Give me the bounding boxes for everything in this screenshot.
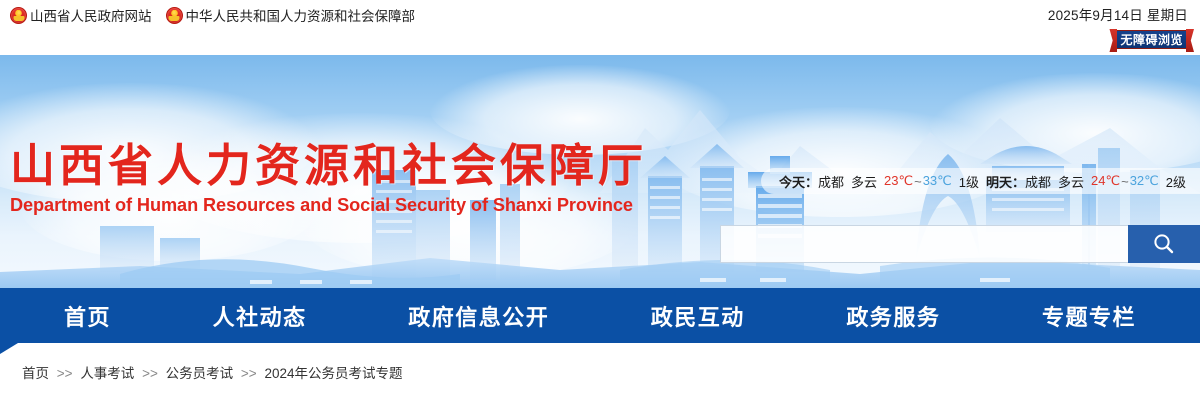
breadcrumb-separator: >> <box>237 366 261 381</box>
top-bar: 山西省人民政府网站 中华人民共和国人力资源和社会保障部 2025年9月14日 星… <box>0 0 1200 55</box>
main-navigation-wrapper: 首页 人社动态 政府信息公开 政民互动 政务服务 专题专栏 <box>0 288 1200 343</box>
breadcrumb-item-current[interactable]: 2024年公务员考试专题 <box>264 366 402 381</box>
weather-today-low-temp: 23℃ <box>884 173 913 189</box>
main-navigation: 首页 人社动态 政府信息公开 政民互动 政务服务 专题专栏 <box>0 288 1200 343</box>
ribbon-right-decoration <box>1186 29 1194 52</box>
search-input[interactable] <box>720 225 1128 263</box>
weather-tomorrow-wind: 2级 <box>1166 172 1186 191</box>
site-banner: 山西省人力资源和社会保障厅 Department of Human Resour… <box>0 55 1200 288</box>
weather-today-range-separator: ~ <box>913 174 923 189</box>
weather-tomorrow-low-temp: 24℃ <box>1091 173 1120 189</box>
nav-item-gov-info[interactable]: 政府信息公开 <box>408 300 549 332</box>
breadcrumb-bar: 首页 >> 人事考试 >> 公务员考试 >> 2024年公务员考试专题 <box>0 343 1200 400</box>
nav-item-services[interactable]: 政务服务 <box>846 300 940 332</box>
link-label: 山西省人民政府网站 <box>30 5 152 25</box>
breadcrumb-separator: >> <box>138 366 162 381</box>
weather-today-city: 成都 <box>818 172 844 191</box>
nav-item-topics[interactable]: 专题专栏 <box>1042 300 1136 332</box>
search-button[interactable] <box>1128 225 1200 263</box>
site-title-block: 山西省人力资源和社会保障厅 Department of Human Resour… <box>10 141 647 216</box>
breadcrumb-item-personnel-exam[interactable]: 人事考试 <box>80 366 134 381</box>
weather-tomorrow-label: 明天： <box>986 172 1025 191</box>
national-emblem-icon <box>10 7 27 24</box>
accessibility-label: 无障碍浏览 <box>1120 31 1183 48</box>
weather-widget: 今天： 成都 多云 23℃ ~ 33℃ 1级 明天： 成都 多云 24℃ ~ 3… <box>761 168 1200 194</box>
breadcrumb-item-home[interactable]: 首页 <box>22 366 49 381</box>
link-shanxi-gov-site[interactable]: 山西省人民政府网站 <box>10 5 152 25</box>
site-title-cn: 山西省人力资源和社会保障厅 <box>10 141 647 191</box>
weather-tomorrow-high-temp: 32℃ <box>1130 173 1159 189</box>
breadcrumb-separator: >> <box>53 366 77 381</box>
breadcrumb: 首页 >> 人事考试 >> 公务员考试 >> 2024年公务员考试专题 <box>22 362 402 382</box>
gov-site-links: 山西省人民政府网站 中华人民共和国人力资源和社会保障部 <box>10 5 415 25</box>
site-search <box>720 225 1200 263</box>
weather-tomorrow-range-separator: ~ <box>1120 174 1130 189</box>
link-mohrss[interactable]: 中华人民共和国人力资源和社会保障部 <box>166 5 416 25</box>
nav-item-interaction[interactable]: 政民互动 <box>651 300 745 332</box>
weather-today-condition: 多云 <box>851 172 877 191</box>
link-label: 中华人民共和国人力资源和社会保障部 <box>186 5 416 25</box>
nav-item-news[interactable]: 人社动态 <box>213 300 307 332</box>
weather-tomorrow-condition: 多云 <box>1058 172 1084 191</box>
weather-tomorrow-city: 成都 <box>1025 172 1051 191</box>
ribbon-left-decoration <box>1109 29 1117 52</box>
nav-item-home[interactable]: 首页 <box>64 300 111 332</box>
weather-today-label: 今天： <box>779 172 818 191</box>
breadcrumb-item-civil-servant-exam[interactable]: 公务员考试 <box>166 366 234 381</box>
national-emblem-icon <box>166 7 183 24</box>
current-date: 2025年9月14日 星期日 <box>1048 4 1188 24</box>
accessibility-browse-button[interactable]: 无障碍浏览 <box>1115 30 1188 49</box>
weather-today-wind: 1级 <box>959 172 979 191</box>
site-title-en: Department of Human Resources and Social… <box>10 195 647 216</box>
weather-today-high-temp: 33℃ <box>923 173 952 189</box>
top-bar-right: 2025年9月14日 星期日 无障碍浏览 <box>1048 4 1188 49</box>
search-icon <box>1151 231 1177 257</box>
